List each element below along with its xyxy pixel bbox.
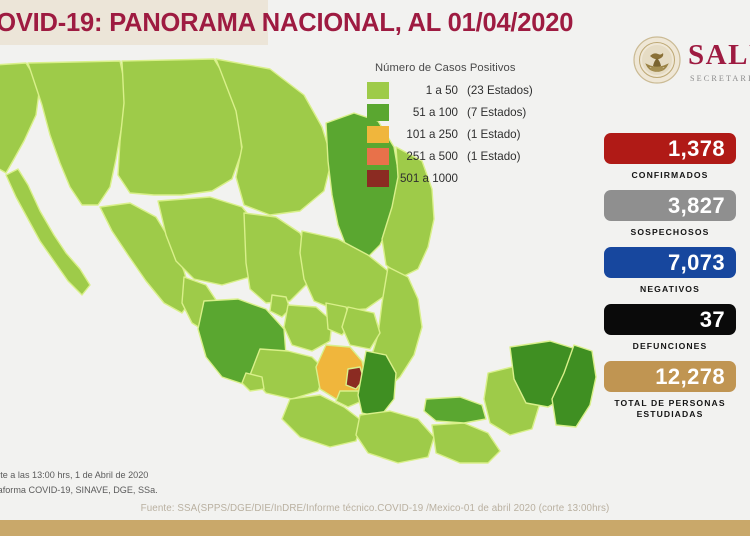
footnotes: *Corte a las 13:00 hrs, 1 de Abril de 20…: [0, 468, 312, 498]
salud-subtitle: SECRETARIA: [690, 74, 750, 83]
legend-item: 251 a 500 (1 Estado): [367, 146, 567, 167]
stat-label-total-estudiadas: TOTAL DE PERSONAS ESTUDIADAS: [604, 398, 736, 420]
stat-label-defunciones: DEFUNCIONES: [604, 341, 736, 352]
state-chiapas: [432, 423, 500, 463]
legend-swatch: [367, 126, 389, 143]
legend-range: 251 a 500: [396, 150, 458, 163]
legend-range: 101 a 250: [396, 128, 458, 141]
state-sonora: [28, 61, 126, 205]
state-tabasco: [424, 397, 486, 423]
legend-title: Número de Casos Positivos: [375, 62, 567, 74]
legend-count: (1 Estado): [467, 128, 521, 141]
legend-count: (23 Estados): [467, 84, 533, 97]
legend-swatch: [367, 148, 389, 165]
legend-range: 51 a 100: [396, 106, 458, 119]
state-oaxaca: [356, 411, 434, 463]
stat-label-sospechosos: SOSPECHOSOS: [604, 227, 736, 238]
stat-value-negativos: 7,073: [604, 247, 736, 278]
legend-swatch: [367, 170, 389, 187]
statistics-panel: 1,378 CONFIRMADOS 3,827 SOSPECHOSOS 7,07…: [604, 133, 736, 429]
state-michoacan: [250, 349, 326, 399]
legend-item: 1 a 50 (23 Estados): [367, 80, 567, 101]
legend-swatch: [367, 104, 389, 121]
salud-logo: SALUD SECRETARIA: [633, 34, 750, 92]
salud-wordmark: SALUD: [688, 40, 750, 70]
map-legend: Número de Casos Positivos 1 a 50 (23 Est…: [367, 62, 567, 190]
stat-value-sospechosos: 3,827: [604, 190, 736, 221]
stat-value-defunciones: 37: [604, 304, 736, 335]
legend-item: 501 a 1000: [367, 168, 567, 189]
footnote-corte: *Corte a las 13:00 hrs, 1 de Abril de 20…: [0, 468, 312, 483]
mexico-eagle-seal-icon: [633, 36, 681, 84]
legend-range: 1 a 50: [396, 84, 458, 97]
legend-item: 51 a 100 (7 Estados): [367, 102, 567, 123]
stat-label-negativos: NEGATIVOS: [604, 284, 736, 295]
footnote-plataforma: Plataforma COVID-19, SINAVE, DGE, SSa.: [0, 483, 312, 498]
legend-count: (1 Estado): [467, 150, 521, 163]
state-guanajuato: [284, 305, 332, 351]
infographic-root: COVID-19: PANORAMA NACIONAL, AL 01/04/20…: [0, 0, 750, 536]
stat-value-confirmados: 1,378: [604, 133, 736, 164]
page-title: COVID-19: PANORAMA NACIONAL, AL 01/04/20…: [0, 6, 658, 40]
legend-count: (7 Estados): [467, 106, 526, 119]
stat-label-confirmados: CONFIRMADOS: [604, 170, 736, 181]
state-hidalgo: [342, 307, 380, 349]
source-citation: Fuente: SSA(SPPS/DGE/DIE/InDRE/Informe t…: [0, 503, 750, 514]
stat-value-total-estudiadas: 12,278: [604, 361, 736, 392]
bottom-accent-bar: [0, 520, 750, 536]
legend-swatch: [367, 82, 389, 99]
legend-range: 501 a 1000: [396, 172, 458, 185]
legend-item: 101 a 250 (1 Estado): [367, 124, 567, 145]
